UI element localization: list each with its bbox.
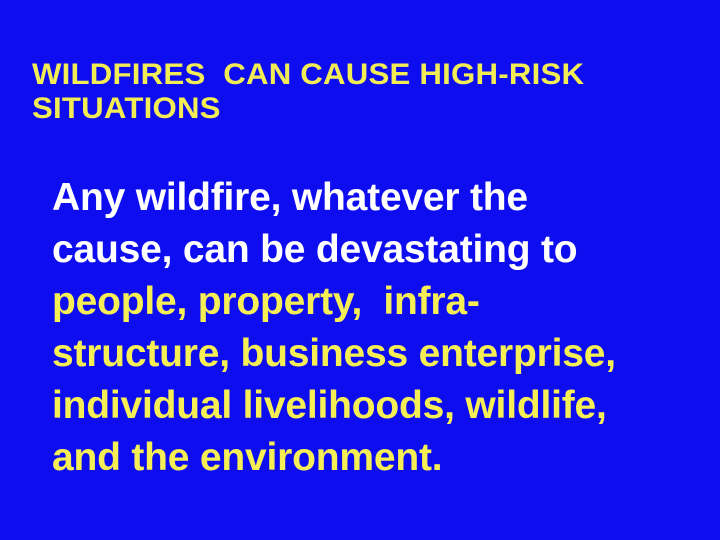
body-line-3: people, property, infra- (52, 276, 712, 328)
body-line-4: structure, business enterprise, (52, 328, 712, 380)
slide-title: WILDFIRES CAN CAUSE HIGH-RISK SITUATIONS (32, 58, 684, 126)
slide-title-line-1: WILDFIRES CAN CAUSE HIGH-RISK (32, 58, 710, 92)
body-line-1: Any wildfire, whatever the (52, 172, 712, 224)
body-line-5: individual livelihoods, wildlife, (52, 380, 712, 432)
presentation-slide: WILDFIRES CAN CAUSE HIGH-RISK SITUATIONS… (0, 0, 720, 540)
slide-body-text: Any wildfire, whatever the cause, can be… (52, 172, 712, 484)
slide-title-line-2: SITUATIONS (32, 92, 710, 126)
body-line-2: cause, can be devastating to (52, 224, 712, 276)
body-line-6: and the environment. (52, 432, 712, 484)
